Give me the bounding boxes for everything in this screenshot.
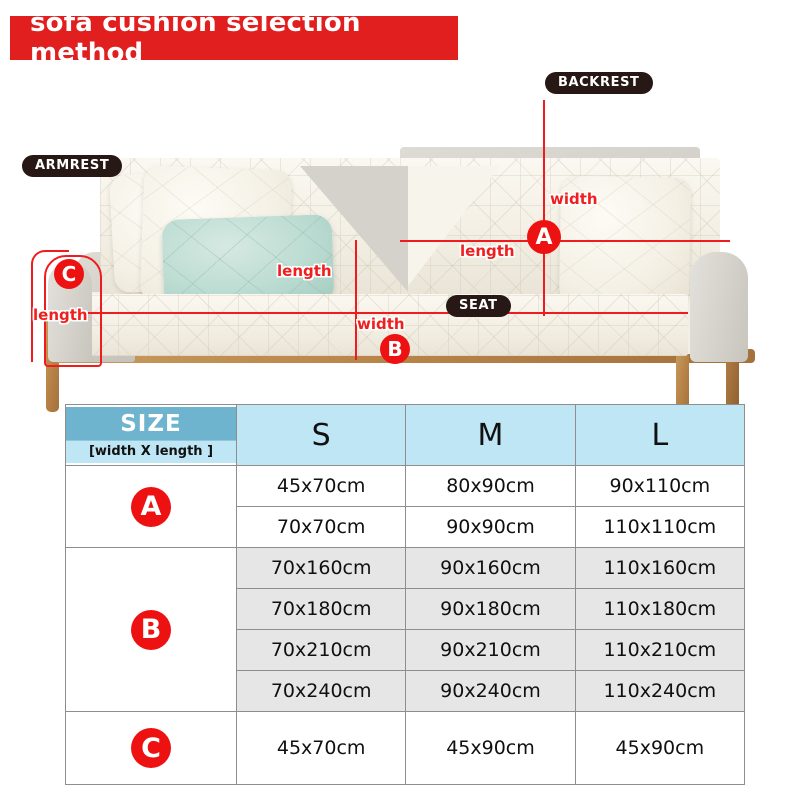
label-b-width: width [357, 315, 405, 333]
cell-a-1-2: 110x110cm [575, 507, 744, 548]
cell-c-0-2: 45x90cm [575, 712, 744, 785]
cell-c-0-1: 45x90cm [406, 712, 575, 785]
cell-a-0-2: 90x110cm [575, 466, 744, 507]
cell-a-0-0: 45x70cm [237, 466, 406, 507]
callout-armrest: ARMREST [22, 155, 122, 177]
cell-b-1-1: 90x180cm [406, 589, 575, 630]
callout-seat: SEAT [446, 295, 511, 317]
cell-c-0-0: 45x70cm [237, 712, 406, 785]
backrest-cover-fold-right [408, 166, 500, 286]
marker-c-letter: C [62, 262, 77, 286]
table-body: A45x70cm80x90cm90x110cm70x70cm90x90cm110… [66, 466, 745, 785]
label-a-length: length [460, 242, 515, 260]
marker-a-letter: A [535, 225, 552, 250]
label-c-length: length [33, 306, 88, 324]
cell-b-3-0: 70x240cm [237, 671, 406, 712]
marker-b-letter: B [387, 337, 402, 361]
header-size-cell: SIZE [width X length ] [66, 405, 237, 466]
header-size-sublabel: [width X length ] [66, 441, 236, 463]
marker-a: A [527, 220, 561, 254]
label-b-length: length [277, 262, 332, 280]
measure-line-a-length [400, 240, 730, 242]
cell-b-2-2: 110x210cm [575, 630, 744, 671]
header-column-m: M [406, 405, 575, 466]
marker-badge-a: A [131, 487, 171, 527]
header-column-s: S [237, 405, 406, 466]
marker-c: C [54, 259, 84, 289]
row-group-marker-c: C [66, 712, 237, 785]
table-row: B70x160cm90x160cm110x160cm [66, 548, 745, 589]
marker-badge-b: B [131, 610, 171, 650]
measure-line-b-length [88, 312, 688, 314]
title-banner: sofa cushion selection method [10, 16, 458, 60]
row-group-marker-a: A [66, 466, 237, 548]
measure-line-b-width [355, 240, 357, 360]
marker-b: B [380, 334, 410, 364]
table-row: A45x70cm80x90cm90x110cm [66, 466, 745, 507]
label-a-width: width [550, 190, 598, 208]
cell-b-1-2: 110x180cm [575, 589, 744, 630]
cell-b-2-0: 70x210cm [237, 630, 406, 671]
sofa-photo: A width length B length width C length A… [0, 62, 800, 407]
cell-b-3-1: 90x240cm [406, 671, 575, 712]
table-header: SIZE [width X length ] S M L [66, 405, 745, 466]
armrest-pad-right [690, 252, 748, 362]
cell-b-1-0: 70x180cm [237, 589, 406, 630]
table-row: C45x70cm45x90cm45x90cm [66, 712, 745, 785]
cell-b-2-1: 90x210cm [406, 630, 575, 671]
callout-backrest: BACKREST [545, 72, 653, 94]
table-header-row: SIZE [width X length ] S M L [66, 405, 745, 466]
cell-a-1-1: 90x90cm [406, 507, 575, 548]
cell-b-0-1: 90x160cm [406, 548, 575, 589]
size-chart-table: SIZE [width X length ] S M L A45x70cm80x… [65, 404, 745, 785]
cell-b-0-2: 110x160cm [575, 548, 744, 589]
page-title: sofa cushion selection method [10, 8, 458, 68]
cell-a-1-0: 70x70cm [237, 507, 406, 548]
leader-line-backrest [543, 100, 545, 168]
header-column-l: L [575, 405, 744, 466]
cell-a-0-1: 80x90cm [406, 466, 575, 507]
marker-badge-c: C [131, 728, 171, 768]
cell-b-3-2: 110x240cm [575, 671, 744, 712]
cell-b-0-0: 70x160cm [237, 548, 406, 589]
row-group-marker-b: B [66, 548, 237, 712]
header-size-label: SIZE [66, 407, 236, 441]
